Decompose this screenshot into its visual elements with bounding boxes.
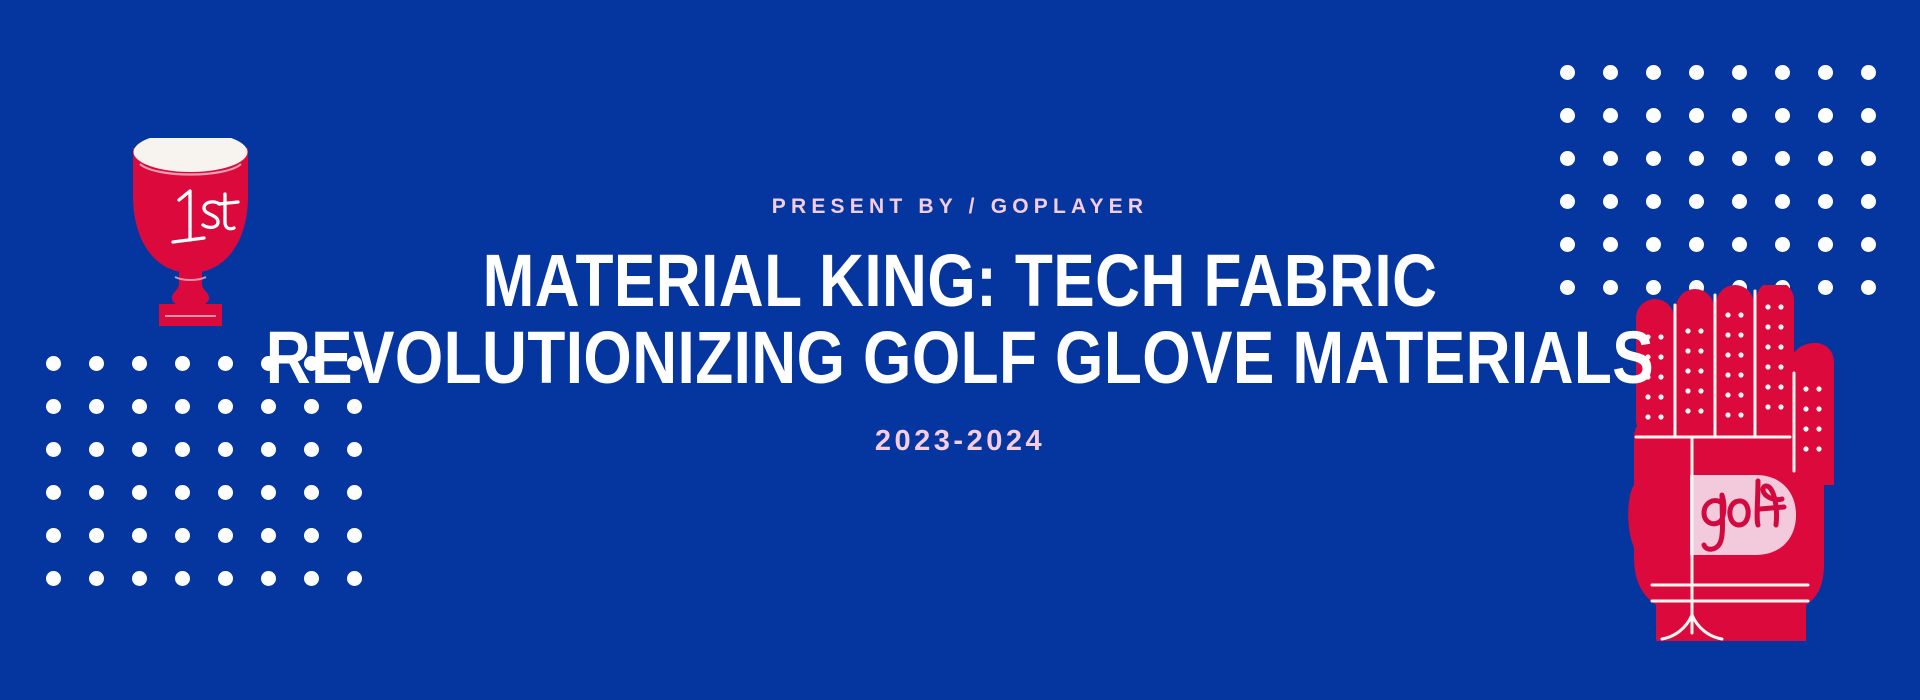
grid-dot <box>1818 151 1833 166</box>
grid-dot <box>1775 108 1790 123</box>
grid-dot <box>1646 151 1661 166</box>
grid-dot <box>1732 65 1747 80</box>
grid-dot <box>175 571 190 586</box>
grid-dot <box>175 485 190 500</box>
grid-dot <box>1646 108 1661 123</box>
grid-dot <box>132 528 147 543</box>
grid-dot <box>304 485 319 500</box>
presenter-kicker: PRESENT BY / GOPLAYER <box>0 196 1920 217</box>
grid-dot <box>89 528 104 543</box>
grid-dot <box>1560 151 1575 166</box>
grid-dot <box>1818 108 1833 123</box>
grid-dot <box>261 485 276 500</box>
grid-dot <box>89 571 104 586</box>
grid-dot <box>175 528 190 543</box>
date-range: 2023-2024 <box>0 427 1920 456</box>
grid-dot <box>89 485 104 500</box>
grid-dot <box>1646 65 1661 80</box>
grid-dot <box>218 528 233 543</box>
grid-dot <box>1603 65 1618 80</box>
grid-dot <box>1818 65 1833 80</box>
grid-dot <box>1861 65 1876 80</box>
grid-dot <box>1775 151 1790 166</box>
grid-dot <box>1689 108 1704 123</box>
grid-dot <box>261 571 276 586</box>
grid-dot <box>1732 108 1747 123</box>
grid-dot <box>46 528 61 543</box>
grid-dot <box>1689 151 1704 166</box>
banner-text-block: PRESENT BY / GOPLAYER MATERIAL KING: TEC… <box>0 196 1920 456</box>
grid-dot <box>218 485 233 500</box>
page-title-line-1: MATERIAL KING: TECH FABRIC <box>154 247 1767 316</box>
grid-dot <box>1861 151 1876 166</box>
grid-dot <box>132 485 147 500</box>
page-title-line-2: REVOLUTIONIZING GOLF GLOVE MATERIALS <box>154 324 1767 393</box>
grid-dot <box>1603 151 1618 166</box>
grid-dot <box>347 571 362 586</box>
grid-dot <box>1689 65 1704 80</box>
golf-banner: PRESENT BY / GOPLAYER MATERIAL KING: TEC… <box>0 0 1920 700</box>
grid-dot <box>347 528 362 543</box>
grid-dot <box>261 528 276 543</box>
grid-dot <box>1560 108 1575 123</box>
grid-dot <box>347 485 362 500</box>
page-title: MATERIAL KING: TECH FABRIC REVOLUTIONIZI… <box>0 247 1920 393</box>
grid-dot <box>304 528 319 543</box>
grid-dot <box>46 571 61 586</box>
grid-dot <box>1861 108 1876 123</box>
grid-dot <box>1775 65 1790 80</box>
grid-dot <box>1603 108 1618 123</box>
grid-dot <box>218 571 233 586</box>
grid-dot <box>46 485 61 500</box>
grid-dot <box>1732 151 1747 166</box>
grid-dot <box>1560 65 1575 80</box>
grid-dot <box>304 571 319 586</box>
grid-dot <box>132 571 147 586</box>
